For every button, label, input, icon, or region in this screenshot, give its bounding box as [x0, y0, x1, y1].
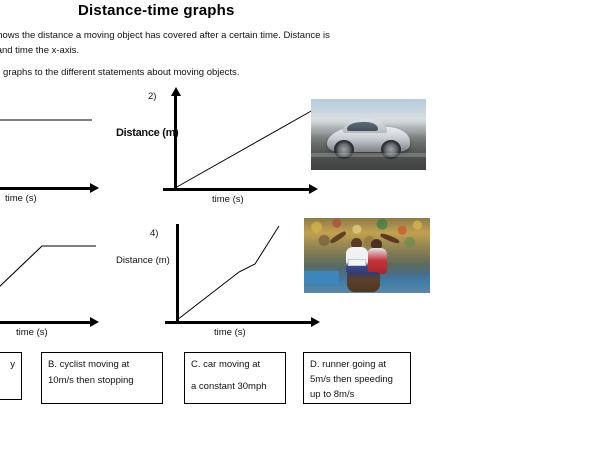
stadium-barrier-shape	[304, 271, 339, 285]
graph-3: time (s)	[0, 228, 100, 338]
graph-1: time (s)	[0, 95, 100, 205]
graph-3-x-axis	[0, 321, 92, 324]
graph-4-y-axis-label: Distance (m)	[116, 255, 170, 266]
graph-2-number: 2)	[148, 91, 156, 102]
graph-4-number: 4)	[150, 228, 158, 239]
graph-3-plot-line	[0, 228, 100, 323]
answer-b-line-2: 10m/s then stopping	[48, 373, 156, 389]
answer-box-c[interactable]: C. car moving at a constant 30mph	[184, 352, 286, 404]
graph-1-x-axis-arrow-icon	[90, 183, 99, 193]
graph-4-plot-line	[177, 224, 322, 322]
runner-legs-shape	[347, 272, 380, 292]
answer-b-line-1: B. cyclist moving at	[48, 357, 156, 373]
answer-c-line-1: C. car moving at	[191, 357, 279, 373]
graph-4: 4) Distance (m) time (s)	[120, 222, 325, 342]
answer-a-line-1: y	[0, 357, 15, 373]
photo-runner	[304, 218, 430, 293]
graph-1-plot-line	[0, 95, 100, 190]
photo-car	[311, 99, 426, 170]
graph-2: 2) Distance (m) time (s)	[120, 88, 325, 208]
runner-race-bib-shape	[348, 259, 366, 266]
graph-2-plot-line	[175, 98, 325, 190]
intro-text-line-1: aph shows the distance a moving object h…	[0, 29, 330, 42]
answer-box-a[interactable]: y	[0, 352, 22, 400]
answer-c-line-2: a constant 30mph	[191, 379, 279, 395]
second-runner-torso-shape	[367, 248, 387, 274]
graph-2-y-axis-arrow-icon	[171, 87, 181, 96]
worksheet-page: Distance-time graphs aph shows the dista…	[0, 0, 613, 460]
intro-text-line-2: -axis and time the x-axis.	[0, 44, 79, 57]
car-motion-blur-shape	[311, 153, 426, 157]
graph-2-x-axis-label: time (s)	[212, 194, 244, 205]
answer-box-b[interactable]: B. cyclist moving at 10m/s then stopping	[41, 352, 163, 404]
graph-1-x-axis-label: time (s)	[5, 193, 37, 204]
intro-text-line-3: e-time graphs to the different statement…	[0, 66, 239, 79]
answer-d-line-2: 5m/s then speeding	[310, 372, 404, 387]
graph-3-x-axis-label: time (s)	[16, 327, 48, 338]
graph-1-x-axis	[0, 187, 92, 190]
answer-d-line-3: up to 8m/s	[310, 387, 404, 402]
graph-2-y-axis-label: Distance (m)	[116, 127, 178, 139]
graph-4-x-axis-label: time (s)	[214, 327, 246, 338]
car-window-shape	[347, 122, 378, 131]
page-title: Distance-time graphs	[78, 2, 235, 19]
graph-3-x-axis-arrow-icon	[90, 317, 99, 327]
answer-box-d[interactable]: D. runner going at 5m/s then speeding up…	[303, 352, 411, 404]
answer-d-line-1: D. runner going at	[310, 357, 404, 372]
